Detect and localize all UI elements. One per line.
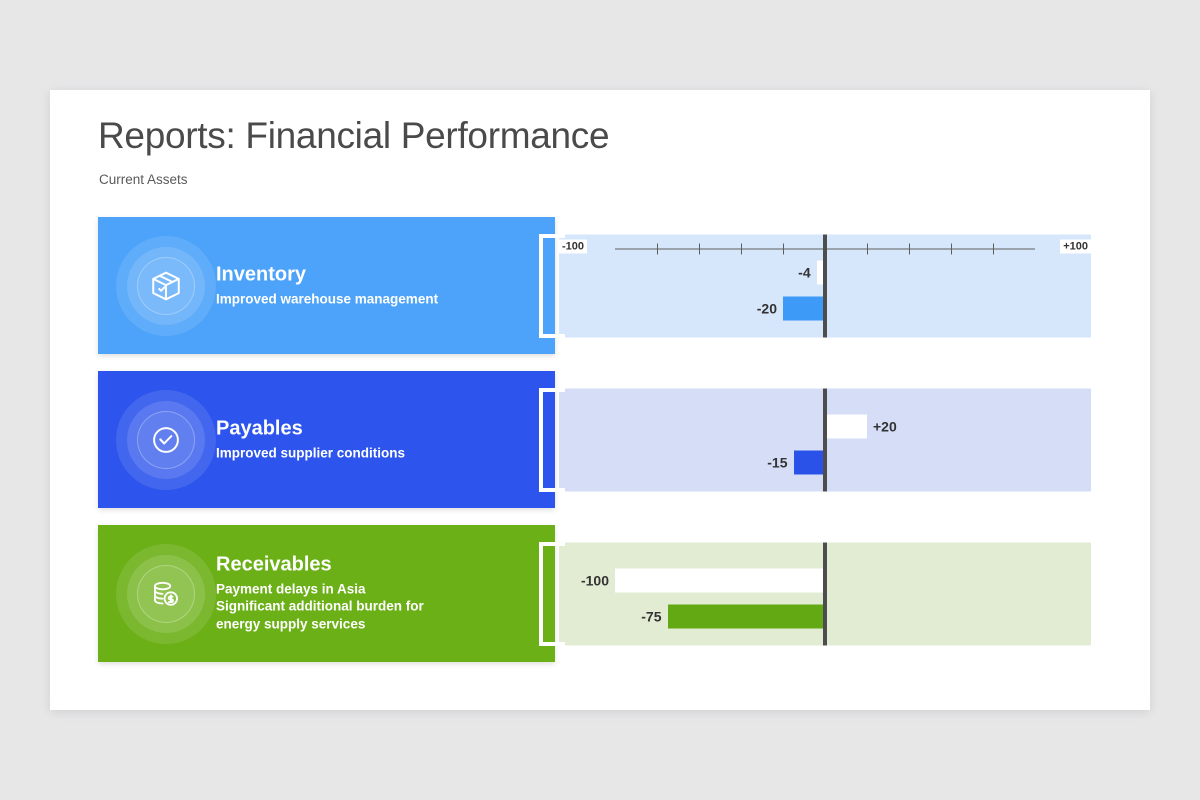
card-title: Payables [216,417,515,440]
row-receivables: Receivables Payment delays in Asia Signi… [50,525,1150,662]
card-inventory-icon-wrap [116,236,216,336]
chart-inventory: -100 +100 -4-20 [559,234,1091,337]
card-subtitle: Improved warehouse management [216,290,515,308]
card-inventory[interactable]: Inventory Improved warehouse management [98,217,555,354]
card-receivables-icon-wrap [116,544,216,644]
axis-tick [741,243,742,254]
slide: Reports: Financial Performance Current A… [50,90,1150,710]
card-subtitle: Improved supplier conditions [216,444,515,462]
bracket-inventory [539,234,565,338]
chart-payables: +20-15 [559,388,1091,491]
row-payables: Payables Improved supplier conditions +2… [50,371,1150,508]
page-subtitle: Current Assets [99,172,188,187]
card-receivables-text: Receivables Payment delays in Asia Signi… [216,553,515,634]
zero-axis-line [823,388,827,491]
axis-tick [783,243,784,254]
bracket-payables [539,388,565,492]
coins-icon [149,577,183,611]
bar-label-receivables-1: -75 [641,604,661,628]
axis-tick [909,243,910,254]
axis-tick [657,243,658,254]
bar-receivables-0 [615,568,825,592]
card-receivables[interactable]: Receivables Payment delays in Asia Signi… [98,525,555,662]
bracket-receivables [539,542,565,646]
axis-label-max: +100 [1060,239,1091,253]
card-payables[interactable]: Payables Improved supplier conditions [98,371,555,508]
card-payables-icon-wrap [116,390,216,490]
axis-tick [699,243,700,254]
chart-receivables: -100-75 [559,542,1091,645]
bar-label-inventory-0: -4 [798,260,810,284]
page-title: Reports: Financial Performance [98,115,609,157]
zero-axis-line [823,234,827,337]
zero-axis-line [823,542,827,645]
card-title: Receivables [216,553,515,576]
card-subtitle: Payment delays in Asia Significant addit… [216,580,515,634]
axis-tick [993,243,994,254]
box-icon [149,269,183,303]
axis-tick [867,243,868,254]
card-inventory-text: Inventory Improved warehouse management [216,263,515,308]
bar-receivables-1 [668,604,826,628]
bar-label-payables-1: -15 [767,450,787,474]
card-title: Inventory [216,263,515,286]
bar-label-receivables-0: -100 [581,568,609,592]
check-circle-icon [149,423,183,457]
bar-label-inventory-1: -20 [757,296,777,320]
bar-inventory-1 [783,296,825,320]
bar-payables-0 [825,414,867,438]
card-payables-text: Payables Improved supplier conditions [216,417,515,462]
bar-payables-1 [794,450,826,474]
axis-tick [951,243,952,254]
bar-label-payables-0: +20 [873,414,897,438]
row-inventory: Inventory Improved warehouse management … [50,217,1150,354]
